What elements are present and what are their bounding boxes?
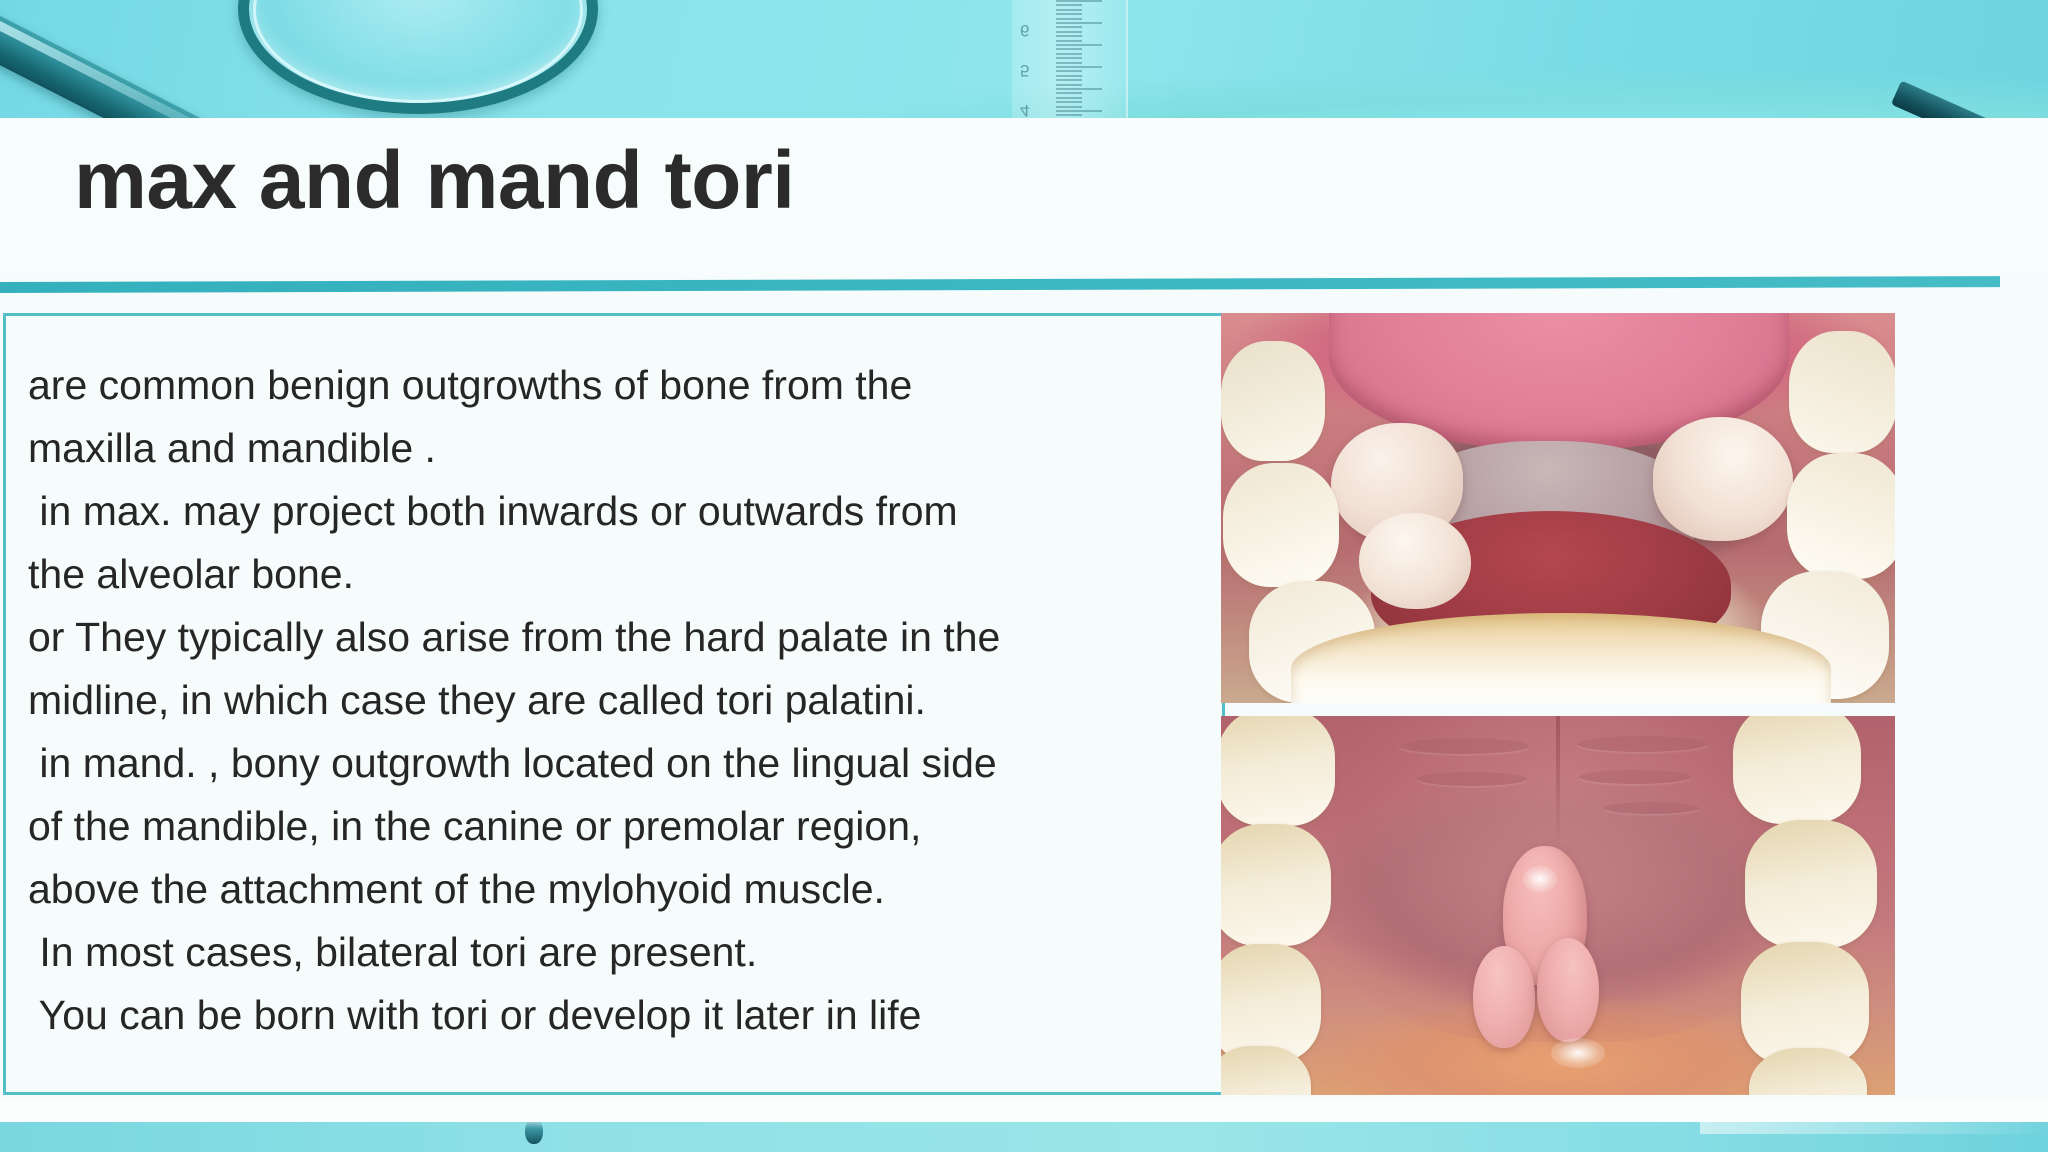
ruler-number: 4 xyxy=(1020,100,1029,118)
molar-right-2 xyxy=(1787,453,1895,579)
palatal-tooth-left-3 xyxy=(1221,944,1321,1062)
mandibular-torus-right xyxy=(1653,417,1793,541)
ruler-tick xyxy=(1056,13,1082,15)
body-line: the alveolar bone. xyxy=(28,543,1200,606)
body-line: above the attachment of the mylohyoid mu… xyxy=(28,858,1200,921)
palatal-ruga-3 xyxy=(1417,772,1527,786)
ruler-tick xyxy=(1056,48,1082,50)
page-title: max and mand tori xyxy=(74,140,795,222)
ruler-tick xyxy=(1056,18,1082,20)
ruler-tick xyxy=(1056,9,1082,11)
ruler-tick xyxy=(1056,35,1082,37)
ruler-icon: 7654 xyxy=(1012,0,1128,118)
ruler-number: 6 xyxy=(1020,20,1029,40)
ruler-tick xyxy=(1056,0,1102,2)
ruler-tick xyxy=(1056,92,1082,94)
specular-highlight-palate xyxy=(1551,1038,1605,1068)
body-line: in max. may project both inwards or outw… xyxy=(28,480,1200,543)
bottom-banner-sheen xyxy=(1700,1122,2048,1134)
title-divider xyxy=(0,276,2000,293)
body-line: are common benign outgrowths of bone fro… xyxy=(28,354,1200,417)
bottom-gap xyxy=(0,1100,2048,1122)
body-line: maxilla and mandible . xyxy=(28,417,1200,480)
palatal-torus-photo xyxy=(1221,716,1895,1095)
ruler-tick xyxy=(1056,70,1082,72)
ruler-tick xyxy=(1056,44,1102,46)
palatal-tooth-left-1 xyxy=(1221,716,1335,826)
ruler-tick xyxy=(1056,66,1102,68)
ruler-tick xyxy=(1056,79,1082,81)
ruler-tick xyxy=(1056,4,1082,6)
body-line: or They typically also arise from the ha… xyxy=(28,606,1200,669)
palatal-ruga-5 xyxy=(1603,802,1699,814)
bottom-banner-image xyxy=(0,1122,2048,1152)
ruler-tick xyxy=(1056,101,1082,103)
body-line: of the mandible, in the canine or premol… xyxy=(28,795,1200,858)
median-raphe xyxy=(1556,716,1560,846)
ruler-tick xyxy=(1056,26,1082,28)
ruler-tick xyxy=(1056,53,1082,55)
ruler-tick xyxy=(1056,40,1082,42)
ruler-tick xyxy=(1056,97,1082,99)
molar-left-2 xyxy=(1223,463,1339,587)
ruler-tick xyxy=(1056,110,1102,112)
body-text-box: are common benign outgrowths of bone fro… xyxy=(3,313,1225,1095)
ruler-tick xyxy=(1056,84,1082,86)
molar-left-1 xyxy=(1221,341,1325,461)
palatal-tooth-left-2 xyxy=(1221,824,1331,946)
body-line: You can be born with tori or develop it … xyxy=(28,984,1200,1047)
mandibular-tori-photo xyxy=(1221,313,1895,703)
palatal-tooth-right-2 xyxy=(1745,820,1877,948)
ruler-tick xyxy=(1056,62,1082,64)
ruler-tick xyxy=(1056,57,1082,59)
body-line: midline, in which case they are called t… xyxy=(28,669,1200,732)
palatal-ruga-2 xyxy=(1577,736,1707,752)
body-line: in mand. , bony outgrowth located on the… xyxy=(28,732,1200,795)
torus-palatinus-left-lobe xyxy=(1473,946,1535,1048)
top-banner-image: 7654 xyxy=(0,0,2048,118)
title-area: max and mand tori xyxy=(0,118,2048,276)
ruler-tick xyxy=(1056,114,1082,116)
ruler-tick xyxy=(1056,22,1102,24)
specular-highlight-torus xyxy=(1523,866,1557,892)
body-line: In most cases, bilateral tori are presen… xyxy=(28,921,1200,984)
ruler-tick xyxy=(1056,31,1082,33)
slide: 7654 max and mand tori are common benign… xyxy=(0,0,2048,1152)
torus-palatinus-right-lobe xyxy=(1537,938,1599,1042)
palatal-ruga-4 xyxy=(1579,770,1691,784)
ruler-tick xyxy=(1056,106,1082,108)
molar-right-1 xyxy=(1789,331,1895,453)
ruler-number: 5 xyxy=(1020,60,1029,80)
palatal-ruga-1 xyxy=(1399,738,1529,754)
palatal-tooth-right-1 xyxy=(1733,716,1861,824)
mandibular-torus-left-lower xyxy=(1359,513,1471,609)
ruler-tick xyxy=(1056,75,1082,77)
ruler-tick xyxy=(1056,88,1102,90)
bottom-banner-object xyxy=(525,1122,543,1144)
